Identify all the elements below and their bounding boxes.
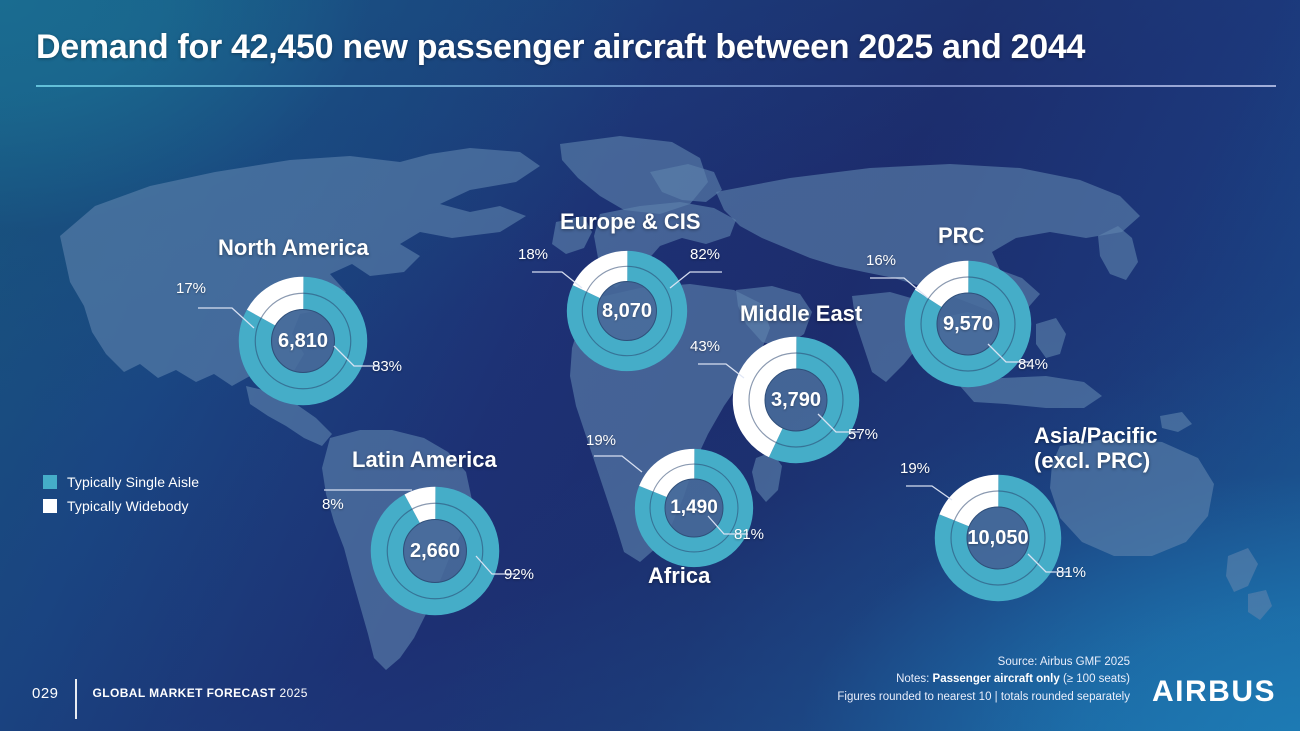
leader-line-single-aisle (666, 268, 724, 296)
donut-chart-north-america[interactable]: 6,810 (240, 278, 366, 404)
leader-line-single-aisle (334, 344, 382, 378)
leader-line-widebody (698, 360, 752, 386)
footer-notes: Source: Airbus GMF 2025 Notes: Passenger… (837, 654, 1130, 707)
region-label-asia-pacific: Asia/Pacific (excl. PRC) (1034, 424, 1158, 473)
legend-item-single-aisle[interactable]: Typically Single Aisle (43, 474, 199, 490)
region-label-north-america: North America (218, 236, 369, 261)
legend-item-label: Typically Widebody (67, 498, 189, 514)
leader-line-widebody (906, 482, 960, 506)
square-swatch-icon (43, 499, 57, 513)
footer-doc-title-year: 2025 (280, 686, 308, 700)
pct-widebody-africa: 19% (586, 432, 616, 449)
airbus-logo: AIRBUS (1152, 675, 1276, 709)
footer-notes-prefix: Notes: (896, 673, 932, 685)
leader-line-widebody (532, 268, 590, 296)
footer-notes-bold: Passenger aircraft only (933, 673, 1060, 685)
footer-divider (75, 679, 77, 719)
leader-line-single-aisle (708, 514, 750, 544)
header-divider (36, 85, 1276, 87)
leader-line-widebody (594, 452, 650, 478)
region-label-asia-pacific-line1: Asia/Pacific (1034, 424, 1158, 449)
leader-line-widebody (870, 274, 936, 304)
footer-doc-title-bold: GLOBAL MARKET FORECAST (93, 686, 276, 700)
page-number: 029 (32, 685, 59, 702)
footer-left: 029 GLOBAL MARKET FORECAST 2025 (32, 673, 308, 713)
footer-notes-line1: Notes: Passenger aircraft only (≥ 100 se… (837, 671, 1130, 689)
leader-line-single-aisle (818, 412, 862, 444)
footer-right: Source: Airbus GMF 2025 Notes: Passenger… (837, 654, 1276, 711)
region-label-prc: PRC (938, 224, 984, 249)
footer-notes-line2: Figures rounded to nearest 10 | totals r… (837, 689, 1130, 707)
square-swatch-icon (43, 475, 57, 489)
pct-widebody-north-america: 17% (176, 280, 206, 297)
legend-item-label: Typically Single Aisle (67, 474, 199, 490)
region-label-asia-pacific-line2: (excl. PRC) (1034, 449, 1158, 474)
slide-header: Demand for 42,450 new passenger aircraft… (36, 28, 1276, 87)
pct-single-aisle-europe-cis: 82% (690, 246, 720, 263)
leader-line-widebody (198, 302, 262, 336)
leader-line-single-aisle (988, 342, 1032, 374)
leader-line-widebody (324, 486, 416, 504)
pct-widebody-prc: 16% (866, 252, 896, 269)
leader-line-single-aisle (1028, 552, 1072, 582)
region-label-africa: Africa (648, 564, 710, 589)
footer-doc-title: GLOBAL MARKET FORECAST 2025 (93, 686, 308, 700)
region-label-middle-east: Middle East (740, 302, 862, 327)
donut-chart-africa[interactable]: 1,490 (636, 450, 752, 566)
legend-item-widebody[interactable]: Typically Widebody (43, 498, 199, 514)
pct-widebody-asia-pacific: 19% (900, 460, 930, 477)
leader-line-single-aisle (476, 554, 518, 586)
footer-source: Source: Airbus GMF 2025 (837, 654, 1130, 672)
pct-widebody-middle-east: 43% (690, 338, 720, 355)
pct-widebody-europe-cis: 18% (518, 246, 548, 263)
region-label-europe-cis: Europe & CIS (560, 210, 701, 235)
slide-canvas: Demand for 42,450 new passenger aircraft… (0, 0, 1300, 731)
donut-chart-latin-america[interactable]: 2,660 (372, 488, 498, 614)
page-title: Demand for 42,450 new passenger aircraft… (36, 28, 1276, 67)
region-label-latin-america: Latin America (352, 448, 497, 473)
footer-notes-suffix: (≥ 100 seats) (1060, 673, 1130, 685)
world-map (0, 86, 1300, 686)
chart-legend: Typically Single Aisle Typically Widebod… (43, 474, 199, 522)
